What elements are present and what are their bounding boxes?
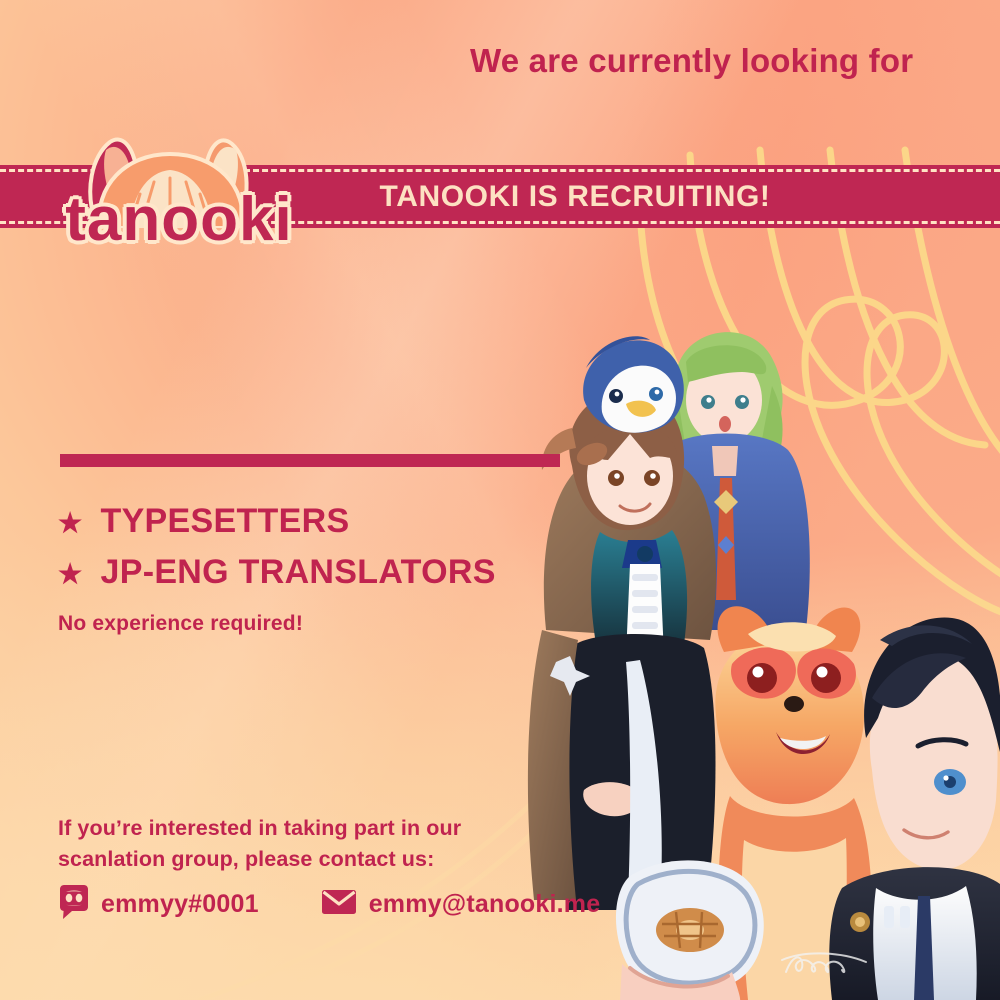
- email-address: emmy@tanooki.me: [369, 890, 601, 919]
- envelope-icon: [322, 889, 356, 920]
- recruitment-poster: We are currently looking for TANOOKI IS …: [0, 0, 1000, 1000]
- role-label: JP-ENG TRANSLATORS: [101, 547, 496, 598]
- experience-note: No experience required!: [58, 612, 303, 636]
- roles-list: ★ TYPESETTERS ★ JP-ENG TRANSLATORS: [58, 496, 598, 598]
- discord-handle: emmyy#0001: [101, 890, 259, 919]
- role-label: TYPESETTERS: [101, 496, 350, 547]
- tanooki-logo: tanooki: [34, 128, 324, 256]
- section-divider: [60, 454, 560, 467]
- artist-signature: [780, 946, 870, 980]
- contact-list: emmyy#0001 emmy@tanooki.me: [58, 885, 600, 924]
- list-item: ★ JP-ENG TRANSLATORS: [58, 547, 598, 598]
- discord-icon: [58, 885, 88, 924]
- star-icon: ★: [58, 561, 83, 588]
- list-item: ★ TYPESETTERS: [58, 496, 598, 547]
- star-icon: ★: [58, 510, 83, 537]
- page-headline: We are currently looking for: [470, 38, 940, 85]
- logo-wordmark: tanooki: [34, 184, 324, 255]
- contact-intro: If you’re interested in taking part in o…: [58, 813, 568, 875]
- contact-email[interactable]: emmy@tanooki.me: [322, 889, 601, 920]
- contact-discord[interactable]: emmyy#0001: [58, 885, 259, 924]
